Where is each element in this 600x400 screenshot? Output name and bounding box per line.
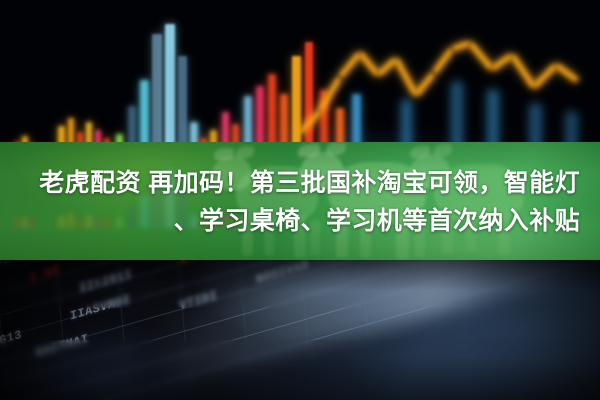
- chart-bar: [178, 56, 187, 152]
- market-bar-chart: [0, 0, 600, 152]
- band-tick: [128, 207, 136, 228]
- band-tick: [77, 218, 83, 228]
- trend-segment: [554, 63, 580, 84]
- band-tick: [58, 216, 65, 228]
- chart-bar: [165, 24, 175, 152]
- bull-statue-right: [408, 148, 526, 254]
- band-tick: [86, 215, 92, 229]
- trend-segment: [432, 47, 455, 75]
- band-tick: [165, 170, 175, 228]
- chart-bar: [268, 74, 276, 152]
- band-tick: [140, 196, 149, 228]
- band-tick: [190, 215, 198, 229]
- promo-banner-image: 老虎配资 再加码！第三批国补淘宝可领，智能灯 、学习桌椅、学习机等首次纳入补贴 …: [0, 0, 600, 400]
- band-tick: [200, 218, 207, 228]
- terminal-far-blur: [0, 340, 600, 400]
- chart-bar: [292, 56, 301, 152]
- band-tick: [68, 213, 74, 228]
- band-tick: [116, 218, 123, 228]
- band-tick: [22, 218, 28, 228]
- green-headline-band: [0, 142, 600, 262]
- chart-bar: [152, 34, 162, 152]
- band-tick: [14, 218, 20, 228]
- band-tick: [152, 175, 162, 228]
- band-tick: [30, 218, 35, 228]
- terminal-near-blur: [0, 260, 600, 308]
- chart-bar: [305, 42, 313, 152]
- band-tick: [95, 218, 101, 228]
- band-tick: [104, 218, 110, 228]
- band-tick: [178, 185, 187, 228]
- trading-terminal-photo: 3351.20IUS05600SSCOIICGIGO1.890.5224.VVB…: [0, 260, 600, 400]
